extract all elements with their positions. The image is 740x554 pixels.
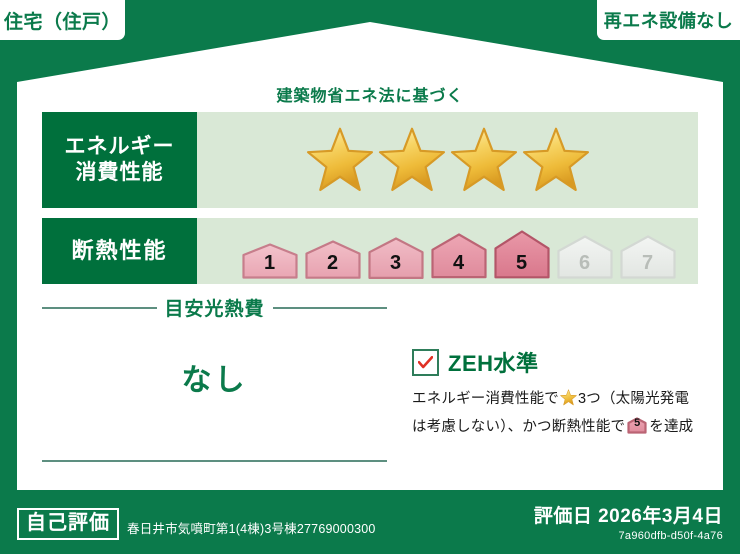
insulation-grade-number: 5	[627, 414, 647, 433]
lower-area: 目安光熱費 なし ZEH水準 エネルギー消費性能で	[42, 294, 698, 484]
insulation-grade-house: 4	[431, 223, 487, 279]
badge-renewable-energy-label: 再エネ設備なし	[604, 7, 734, 33]
insulation-grade-number: 6	[557, 252, 613, 275]
star-icon	[522, 126, 590, 194]
heading-rule-left	[42, 307, 157, 309]
insulation-grade-number: 7	[620, 252, 676, 275]
insulation-grade-number: 2	[305, 252, 361, 275]
insulation-grade-house: 3	[368, 223, 424, 279]
insulation-performance-label: 断熱性能	[42, 218, 197, 284]
self-evaluation-badge: 自己評価	[17, 508, 119, 540]
energy-star-rating	[197, 112, 698, 208]
insulation-grade-number: 4	[431, 252, 487, 275]
star-icon	[560, 389, 577, 415]
insulation-performance-label-text: 断熱性能	[71, 237, 167, 265]
energy-performance-label-line2: 消費性能	[76, 160, 164, 186]
footer: 自己評価 春日井市気噴町第1(4棟)3号棟27769000300 評価日 202…	[0, 490, 740, 554]
insulation-grade-house: 5	[494, 223, 550, 279]
property-name: 春日井市気噴町第1(4棟)3号棟27769000300	[127, 518, 376, 540]
insulation-grade-house: 1	[242, 223, 298, 279]
insulation-grade-house: 2	[305, 223, 361, 279]
star-icon	[450, 126, 518, 194]
energy-performance-label-line1: エネルギー	[65, 134, 175, 160]
footer-left: 自己評価 春日井市気噴町第1(4棟)3号棟27769000300	[17, 508, 376, 540]
star-icon	[306, 126, 374, 194]
energy-performance-label: エネルギー 消費性能	[42, 112, 197, 208]
check-icon	[412, 349, 439, 376]
zeh-title: ZEH水準	[448, 346, 539, 378]
insulation-grade-number: 5	[494, 252, 550, 275]
zeh-desc-part3: を達成	[649, 419, 693, 435]
star-icon	[378, 126, 446, 194]
insulation-grade-scale: 1 2 3 4	[197, 218, 698, 284]
insulation-grade-house: 6	[557, 223, 613, 279]
evaluation-id: 7a960dfb-d50f-4a76	[534, 530, 723, 542]
utility-cost-value: なし	[42, 355, 387, 399]
utility-cost-heading-text: 目安光熱費	[165, 294, 265, 321]
card-subtitle: 建築物省エネ法に基づく	[17, 82, 723, 106]
badge-renewable-energy: 再エネ設備なし	[597, 0, 740, 40]
zeh-desc-part1: エネルギー消費性能で	[412, 391, 559, 407]
zeh-description: エネルギー消費性能で 3つ（太陽光発電は考慮しない）、かつ断熱性能で 5を達成	[412, 387, 698, 439]
insulation-grade-house-icon: 5	[627, 417, 647, 434]
utility-cost-heading: 目安光熱費	[42, 294, 387, 321]
footer-right: 評価日 2026年3月4日 7a960dfb-d50f-4a76	[534, 501, 723, 542]
energy-performance-row: エネルギー 消費性能	[42, 112, 698, 208]
insulation-performance-row: 断熱性能 1 2 3	[42, 218, 698, 284]
badge-dwelling-type-label: 住宅（住戸）	[4, 7, 121, 34]
heading-rule-right	[273, 307, 388, 309]
evaluation-date: 評価日 2026年3月4日	[534, 501, 723, 528]
zeh-block: ZEH水準 エネルギー消費性能で 3つ（太陽光発電は考慮しない）、かつ断熱性能で…	[412, 346, 698, 439]
zeh-desc-stars: 3つ（太陽光発電	[578, 391, 689, 407]
utility-cost-bottom-rule	[42, 460, 387, 462]
insulation-grade-number: 3	[368, 252, 424, 275]
utility-cost-block: 目安光熱費 なし	[42, 294, 387, 484]
zeh-desc-part2: は考慮しない）、かつ断熱性能で	[412, 419, 625, 435]
insulation-grade-house: 7	[620, 223, 676, 279]
zeh-heading: ZEH水準	[412, 346, 698, 378]
badge-dwelling-type: 住宅（住戸）	[0, 0, 125, 40]
energy-label-card: 建築物省エネ法に基づく 省エネ性能ラベル エネルギー 消費性能	[17, 22, 723, 490]
insulation-grade-number: 1	[242, 252, 298, 275]
